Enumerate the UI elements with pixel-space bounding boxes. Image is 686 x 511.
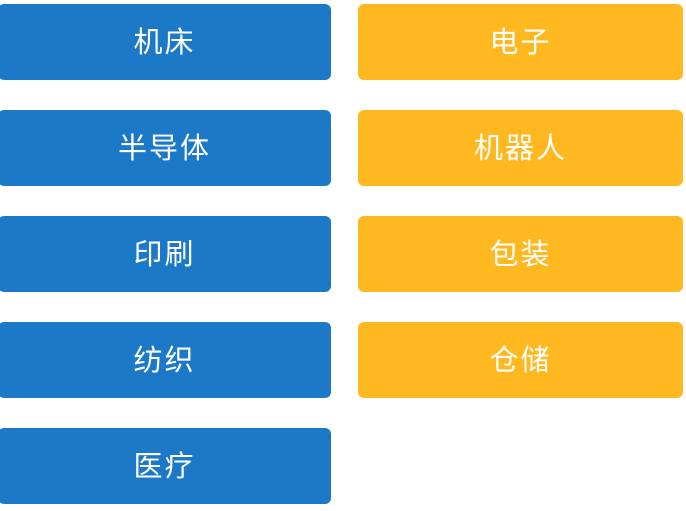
- grid-cell-right-5-empty: [358, 428, 683, 504]
- category-button-robotics[interactable]: 机器人: [358, 110, 683, 186]
- category-grid: 机床 电子 半导体 机器人 印刷 包装 纺织 仓储 医疗: [0, 0, 686, 511]
- category-button-warehousing[interactable]: 仓储: [358, 322, 683, 398]
- category-button-printing[interactable]: 印刷: [0, 216, 331, 292]
- grid-cell-left-3: 印刷: [0, 216, 331, 292]
- category-button-semiconductor[interactable]: 半导体: [0, 110, 331, 186]
- category-button-packaging[interactable]: 包装: [358, 216, 683, 292]
- category-button-textile[interactable]: 纺织: [0, 322, 331, 398]
- category-button-medical[interactable]: 医疗: [0, 428, 331, 504]
- column-gutter-5: [331, 428, 358, 504]
- column-gutter-4: [331, 322, 358, 398]
- category-button-board: 机床 电子 半导体 机器人 印刷 包装 纺织 仓储 医疗: [0, 0, 686, 511]
- grid-cell-right-1: 电子: [358, 4, 683, 80]
- category-button-electronics[interactable]: 电子: [358, 4, 683, 80]
- grid-cell-right-3: 包装: [358, 216, 683, 292]
- category-button-machine-tool[interactable]: 机床: [0, 4, 331, 80]
- grid-cell-left-5: 医疗: [0, 428, 331, 504]
- column-gutter-3: [331, 216, 358, 292]
- grid-cell-left-2: 半导体: [0, 110, 331, 186]
- column-gutter-2: [331, 110, 358, 186]
- column-gutter-1: [331, 4, 358, 80]
- empty-slot: [358, 428, 683, 504]
- grid-cell-left-1: 机床: [0, 4, 331, 80]
- grid-cell-right-2: 机器人: [358, 110, 683, 186]
- grid-cell-left-4: 纺织: [0, 322, 331, 398]
- grid-cell-right-4: 仓储: [358, 322, 683, 398]
